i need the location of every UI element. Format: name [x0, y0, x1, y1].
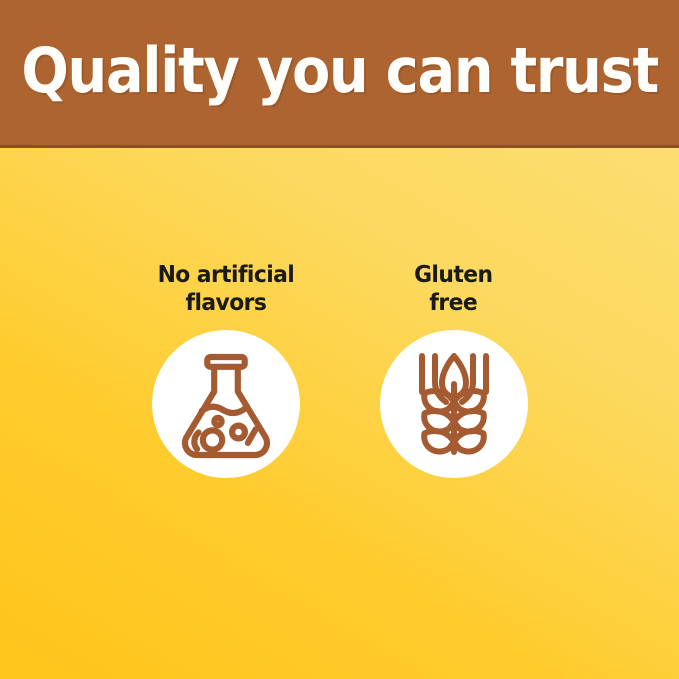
- quality-banner: Quality you can trust No artificial flav…: [0, 0, 679, 679]
- page-title: Quality you can trust: [21, 40, 658, 102]
- wheat-icon: [404, 348, 504, 460]
- flask-icon: [174, 349, 278, 459]
- feature-label: Gluten free: [414, 261, 492, 317]
- feature-list: No artificial flavors: [0, 148, 679, 679]
- banner-header: Quality you can trust: [0, 0, 679, 148]
- feature-no-artificial-flavors: No artificial flavors: [150, 261, 302, 478]
- feature-gluten-free: Gluten free: [378, 261, 530, 478]
- feature-label: No artificial flavors: [157, 261, 294, 317]
- feature-icon-circle: [380, 330, 528, 478]
- feature-icon-circle: [152, 330, 300, 478]
